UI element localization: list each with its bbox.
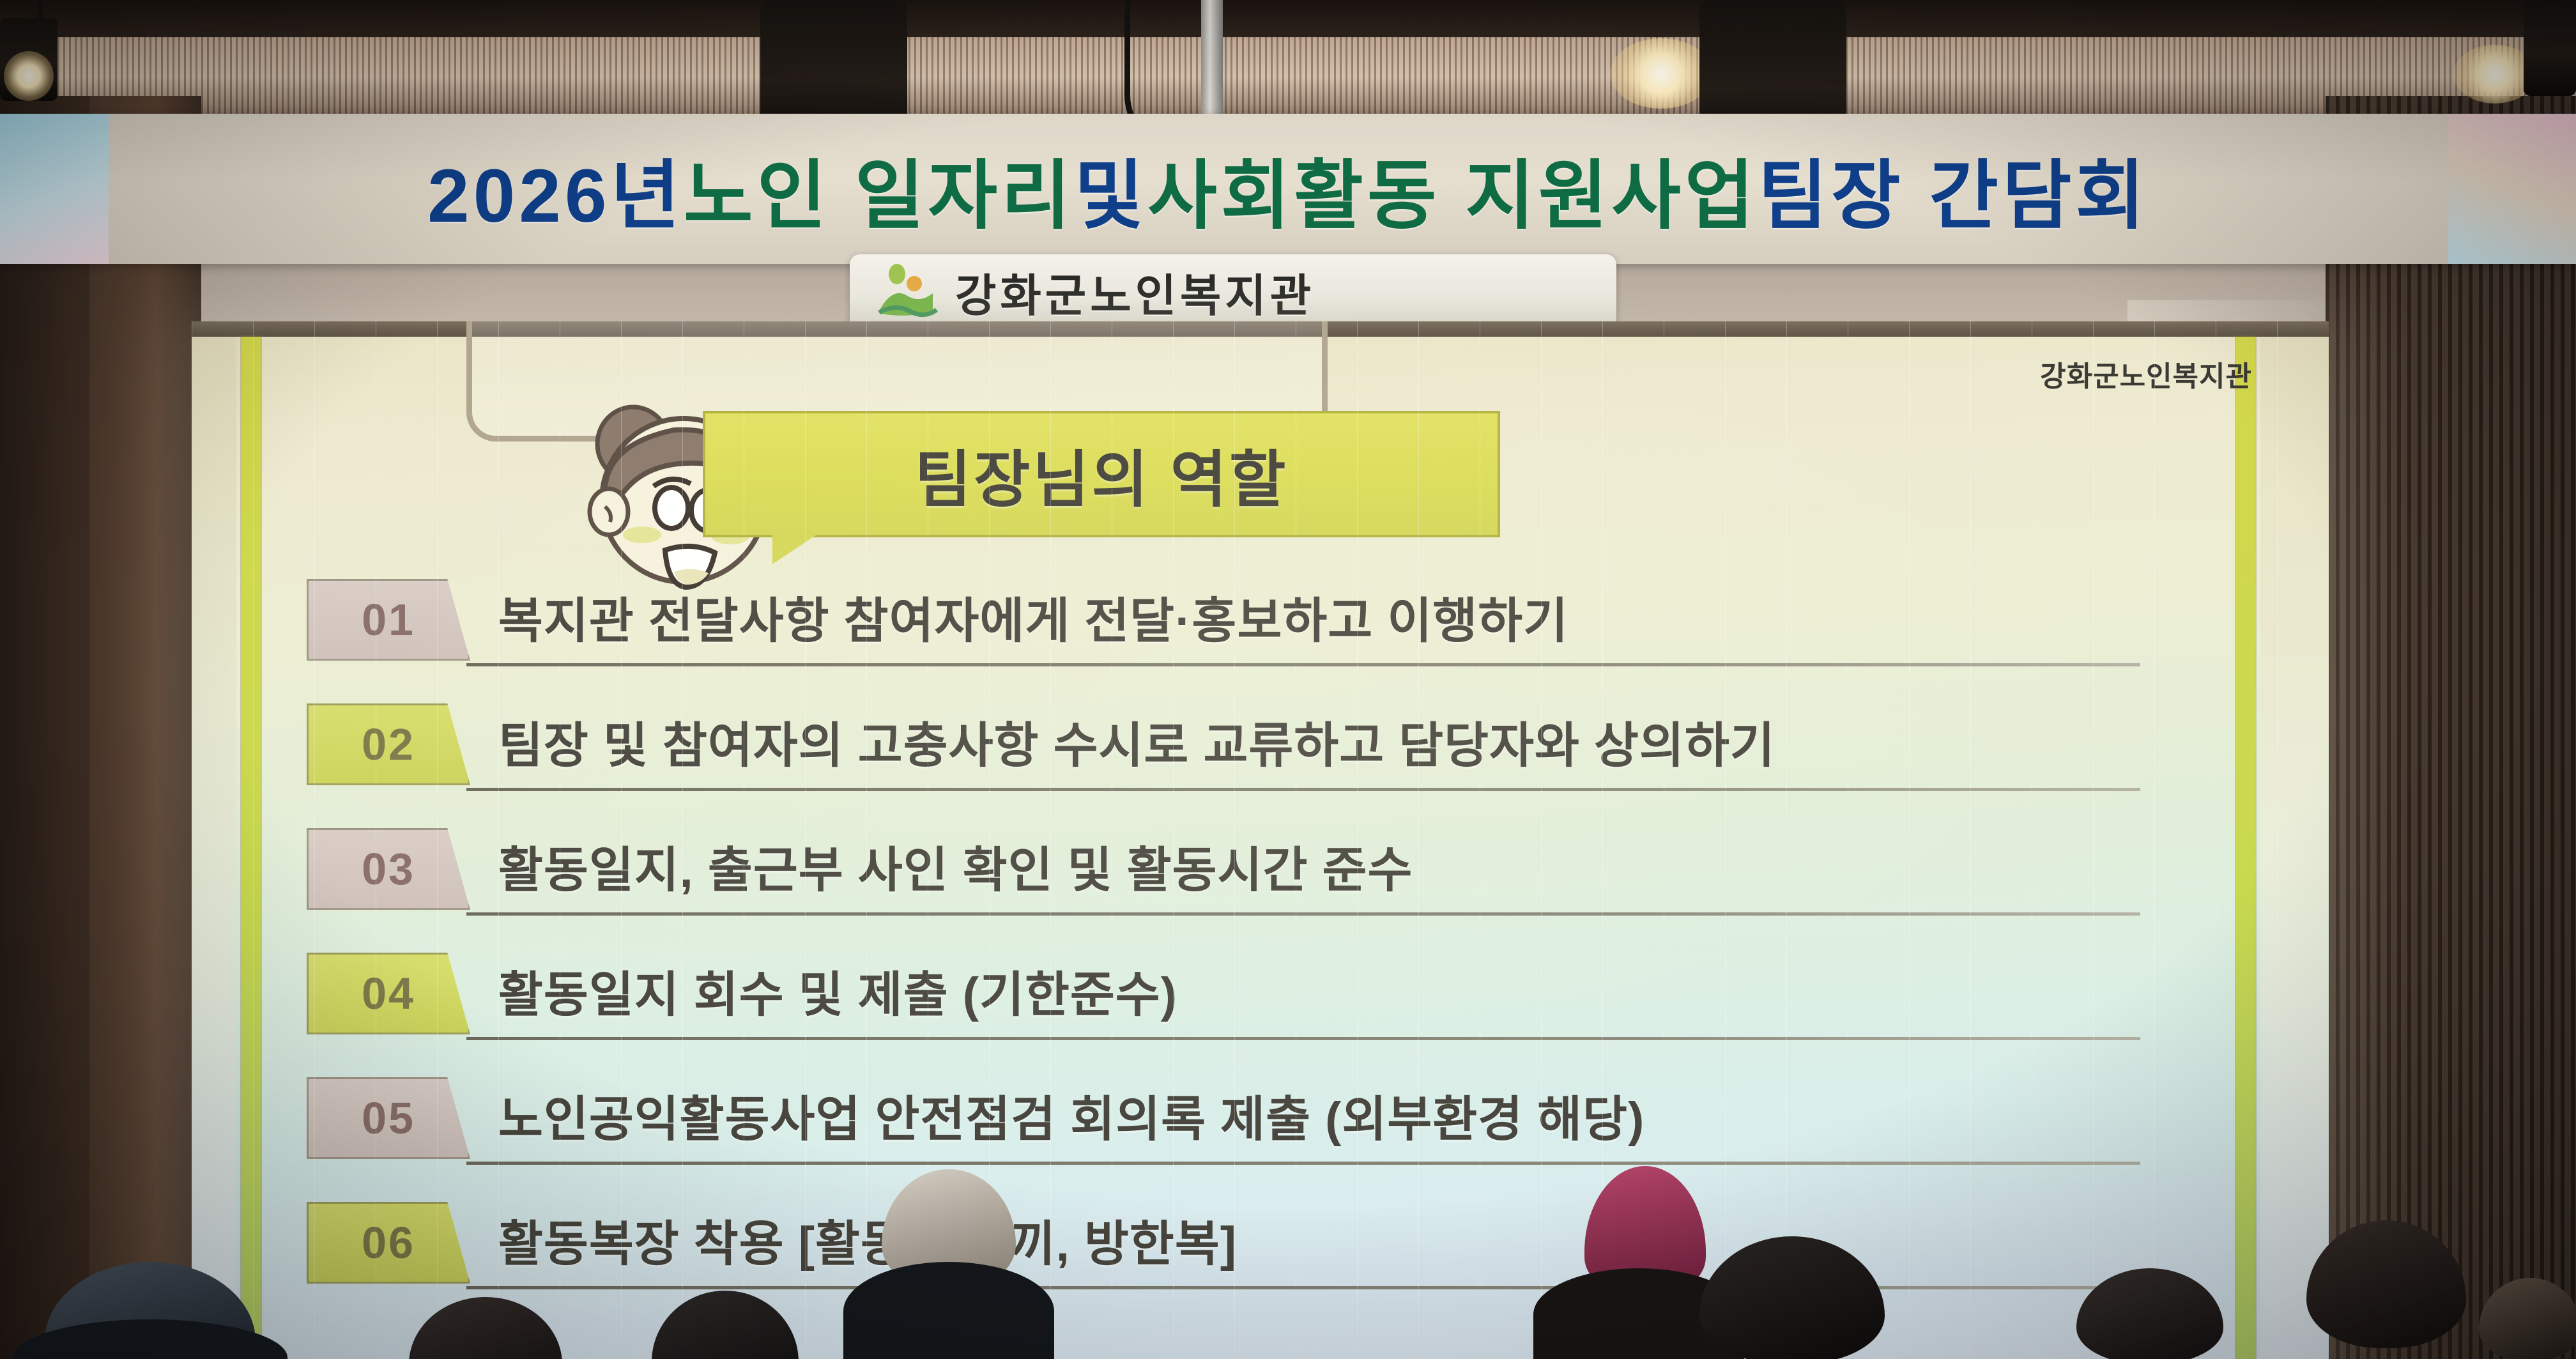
audience-shoulders	[843, 1262, 1054, 1359]
list-item-number: 02	[362, 719, 415, 770]
ceiling-shadow	[0, 0, 2576, 37]
list-item-text: 팀장 및 참여자의 고충사항 수시로 교류하고 담당자와 상의하기	[498, 706, 1775, 776]
list-item: 04 활동일지 회수 및 제출 (기한준수)	[307, 941, 2198, 1066]
list-item-rule	[466, 912, 2140, 916]
banner-seg-2: 및	[1075, 134, 1148, 243]
banner-seg-1: 노인 일자리	[684, 134, 1075, 243]
list-item-text: 활동일지 회수 및 제출 (기한준수)	[498, 955, 1177, 1025]
list-item-rule	[466, 1286, 2140, 1289]
light-glow	[4, 51, 54, 101]
stage-light-icon	[2524, 0, 2576, 96]
list-item-text: 노인공익활동사업 안전점검 회의록 제출 (외부환경 해당)	[498, 1080, 1644, 1150]
list-item: 06 활동복장 착용 [활동복 조끼, 방한복]	[307, 1190, 2198, 1315]
list-item-number-badge: 01	[307, 579, 470, 661]
presentation-slide: 강화군노인복지관 팀장님의 역할	[192, 321, 2329, 1359]
page-title: 팀장님의 역할	[915, 430, 1289, 519]
roles-list: 01 복지관 전달사항 참여자에게 전달·홍보하고 이행하기 02 팀장 및 참…	[307, 567, 2198, 1315]
list-item-number: 03	[362, 843, 415, 894]
list-item-text: 복지관 전달사항 참여자에게 전달·홍보하고 이행하기	[498, 581, 1568, 652]
slide-title-bubble: 팀장님의 역할	[703, 411, 1500, 537]
list-item-number-badge: 05	[307, 1077, 470, 1159]
banner-seg-0: 2026년	[427, 134, 684, 243]
event-banner: 2026년 노인 일자리 및 사회활동 지원사업 팀장 간담회	[0, 114, 2576, 264]
projection-screen: 강화군노인복지관 팀장님의 역할	[192, 321, 2329, 1359]
list-item-text: 활동일지, 출근부 사인 확인 및 활동시간 준수	[498, 831, 1413, 901]
list-item-text: 활동복장 착용 [활동복 조끼, 방한복]	[498, 1204, 1237, 1275]
banner-title: 2026년 노인 일자리 및 사회활동 지원사업 팀장 간담회	[0, 114, 2576, 264]
slide-right-accent	[2236, 337, 2255, 1359]
list-item: 02 팀장 및 참여자의 고충사항 수시로 교류하고 담당자와 상의하기	[307, 692, 2198, 817]
list-item-rule	[466, 663, 2140, 666]
light-glow	[1610, 38, 1712, 109]
list-item-number: 04	[362, 968, 415, 1019]
list-item-number-badge: 02	[307, 703, 470, 785]
organization-plaque: 강화군노인복지관	[850, 254, 1616, 330]
banner-seg-4: 팀장 간담회	[1758, 134, 2149, 243]
left-wall-panel	[89, 96, 201, 1359]
list-item-rule	[466, 1037, 2140, 1040]
list-item-number: 06	[362, 1217, 415, 1268]
organization-name: 강화군노인복지관	[955, 260, 1315, 325]
banner-seg-3: 사회활동 지원사업	[1147, 134, 1758, 243]
list-item-number-badge: 04	[307, 953, 470, 1034]
list-item-number-badge: 06	[307, 1202, 470, 1284]
slide-right-margin	[2260, 337, 2329, 1359]
list-item: 03 활동일지, 출근부 사인 확인 및 활동시간 준수	[307, 817, 2198, 941]
list-item-number: 01	[362, 594, 415, 645]
photo-scene: 2026년 노인 일자리 및 사회활동 지원사업 팀장 간담회 강화군노인복지관…	[0, 0, 2576, 1359]
list-item-rule	[466, 788, 2140, 791]
list-item: 01 복지관 전달사항 참여자에게 전달·홍보하고 이행하기	[307, 567, 2198, 692]
list-item: 05 노인공익활동사업 안전점검 회의록 제출 (외부환경 해당)	[307, 1066, 2198, 1190]
slide-left-margin	[192, 337, 236, 1359]
slide-left-accent	[241, 337, 261, 1359]
list-item-number: 05	[362, 1093, 415, 1144]
right-wall-slats	[2326, 96, 2576, 1359]
list-item-rule	[466, 1162, 2140, 1165]
senior-welfare-center-logo-icon	[874, 263, 941, 321]
list-item-number-badge: 03	[307, 828, 470, 910]
slide-corner-label: 강화군노인복지관	[2040, 353, 2252, 394]
